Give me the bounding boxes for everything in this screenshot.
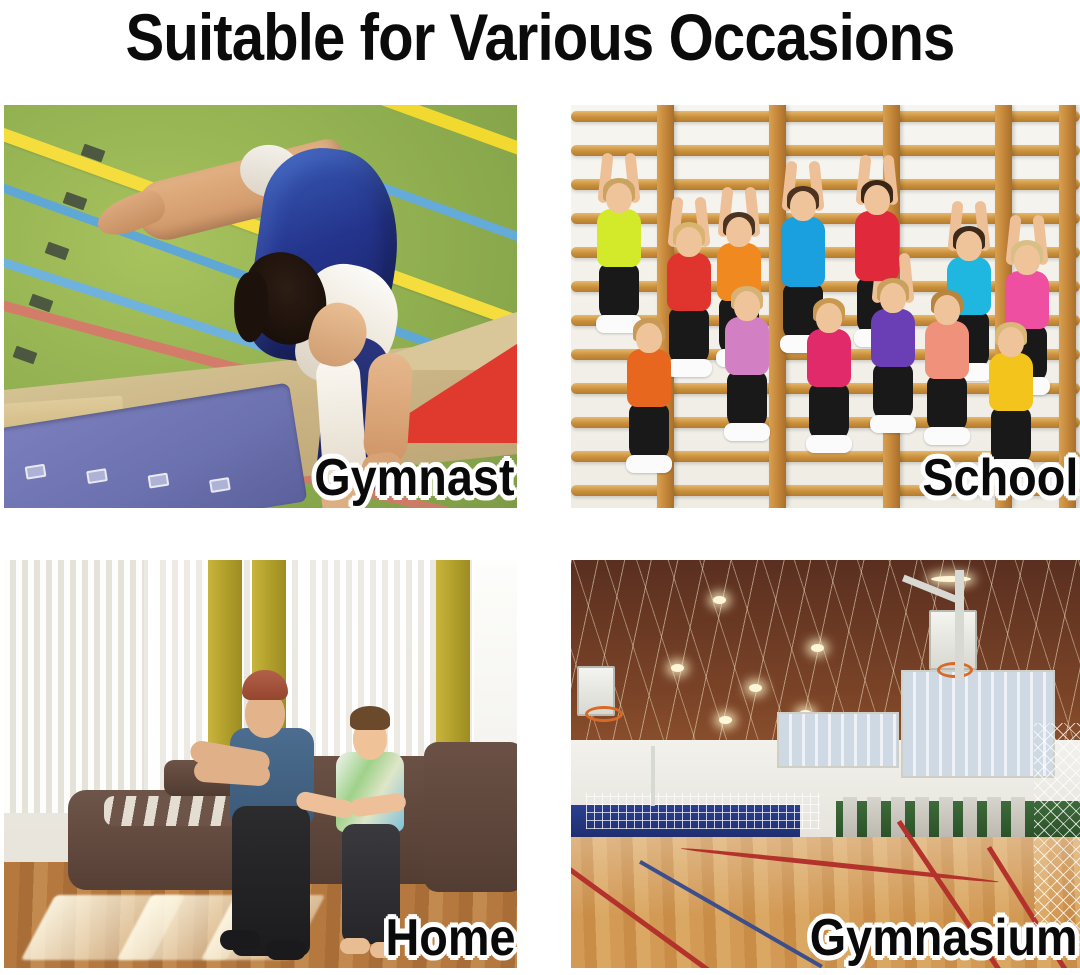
locker [963,797,977,842]
student-shirt [781,217,825,287]
student-head [934,295,960,325]
locker [867,797,881,842]
caption-school: School [922,450,1078,506]
student-head [864,185,890,215]
student-head [734,291,760,321]
student-head [790,191,816,221]
student-head [816,303,842,333]
student-shirt [855,211,899,281]
caption-home: Home [385,910,515,966]
student-head [676,227,702,257]
student-shoes [724,423,770,441]
mat-clip [86,468,108,484]
volleyball-net [586,793,820,830]
student-leggings [727,371,767,429]
student-shoes [666,359,712,377]
panel-gymnast[interactable]: Gymnast [4,105,517,508]
student-leggings [599,263,639,321]
student-shirt [725,317,769,375]
student-shoes [924,427,970,445]
student-shirt [989,353,1033,411]
sofa-arm [424,742,517,892]
boy-foot [340,938,370,954]
man-foot [220,930,260,950]
student-shoes [806,435,852,453]
student-head [636,323,662,353]
student-shirt [807,329,851,387]
boy-hair [350,706,390,730]
volleyball-post [651,746,655,806]
ceiling-light-strip [931,576,971,582]
locker [939,797,953,842]
student-head [606,183,632,213]
locker [987,797,1001,842]
ceiling-light [671,664,684,672]
gymnasium-photo [571,560,1080,968]
locker [843,797,857,842]
student-shoes [626,455,672,473]
caption-gymnasium: Gymnasium [810,910,1078,966]
student-shirt [925,321,969,379]
student-head [998,327,1024,357]
home-photo [4,560,517,968]
student-shirt [597,209,641,267]
student-leggings [809,383,849,441]
student-shirt [871,309,915,367]
hoop-support [955,570,964,680]
clerestory-windows [901,670,1055,778]
locker [915,797,929,842]
student-head [726,217,752,247]
mat-clip [148,473,170,489]
ceiling-light [811,644,824,652]
student-leggings [669,307,709,365]
panel-school[interactable]: School [571,105,1080,508]
clerestory-windows [777,712,899,768]
backboard [929,610,977,670]
student-head [956,231,982,261]
gymnast-photo [4,105,517,508]
caption-gymnast: Gymnast [315,450,515,506]
panel-gymnasium[interactable]: Gymnasium [571,560,1080,968]
student-shirt [627,349,671,407]
ceiling-light [713,596,726,604]
panel-home[interactable]: Home [4,560,517,968]
man-foot [266,940,306,960]
locker [1011,797,1025,842]
ceiling-light [749,684,762,692]
locker [891,797,905,842]
page-title: Suitable for Various Occasions [65,2,1015,72]
wall-bar-stile [1059,105,1076,508]
school-photo [571,105,1080,508]
boy-shirt [336,752,404,832]
mat-clip [209,477,231,493]
student-shirt [667,253,711,311]
student-leggings [873,363,913,421]
basketball-rim [585,706,623,722]
student-head [880,283,906,313]
student-shirt [1005,271,1049,329]
student-shoes [870,415,916,433]
student-leggings [927,375,967,433]
ceiling-light [719,716,732,724]
student-leggings [629,403,669,461]
student-head [1014,245,1040,275]
mat-clip [25,464,47,480]
